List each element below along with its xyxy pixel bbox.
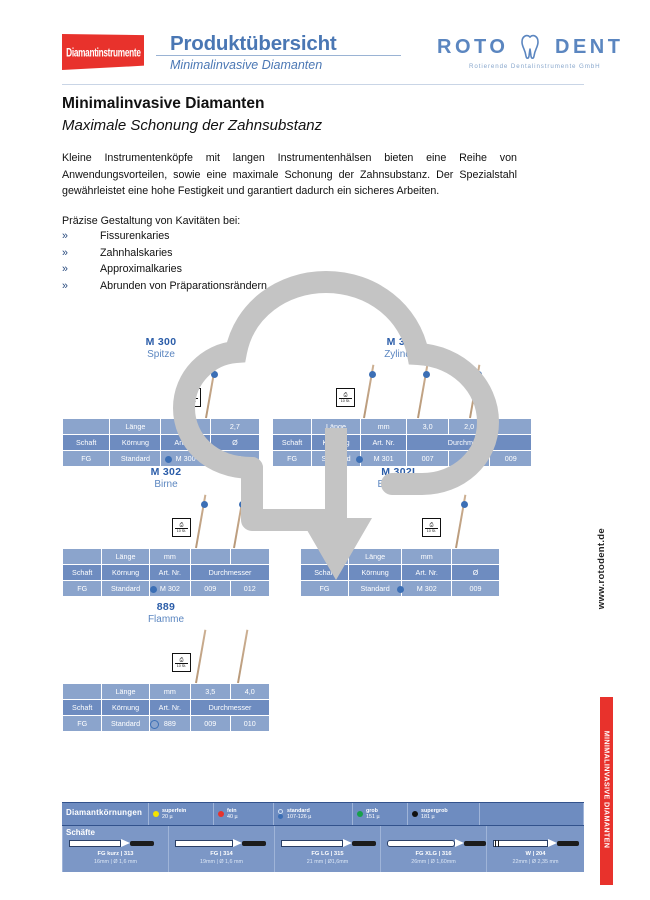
cell-grit-value: Standard <box>312 451 361 467</box>
bur-head <box>423 371 430 378</box>
cell-length-label: Länge <box>110 419 161 435</box>
product-name: M 300 <box>62 336 260 348</box>
product-name: M 301 <box>272 336 532 348</box>
cell-empty <box>273 419 312 435</box>
bur-graphic <box>190 625 202 683</box>
cell-length-value: 2,7 <box>210 419 259 435</box>
cell-shaft-value: FG <box>63 451 110 467</box>
cell-unit: mm <box>402 549 452 565</box>
shaft-legend: Schäfte FG kurz | 313 16mm | Ø 1,6 mm FG… <box>62 826 584 872</box>
table-row: Schaft Körnung Art. Nr. Ø <box>63 435 260 451</box>
list-item: » Approximalkaries <box>62 263 462 280</box>
cell-shaft-label: Schaft <box>63 565 102 581</box>
cell-shaft-value: FG <box>63 581 102 597</box>
cell-diam-value: 009 <box>191 716 230 732</box>
grain-legend: Diamantkörnungen superfein 20 µ fein 40 … <box>62 802 584 826</box>
shaft-label: FG LG | 315 <box>275 851 380 857</box>
cell-diam-value: 010 <box>230 716 269 732</box>
grain-size: 107-126 µ <box>287 814 311 820</box>
product-block-m301: M 301 Zylinder ⎙ 10 St. Länge <box>272 336 532 467</box>
bur-illustrations: ⎙ 10 St. <box>300 490 500 548</box>
bur-graphic <box>228 490 240 548</box>
page-subtitle: Maximale Schonung der Zahnsubstanz <box>62 117 322 134</box>
cell-diam-label: Durchmesser <box>191 565 270 581</box>
shaft-graphic <box>387 839 487 848</box>
table-row: Länge mm <box>301 549 500 565</box>
bur-illustrations: ⎙ 10 St. <box>62 625 270 683</box>
page-header: Diamantinstrumente Produktübersicht Mini… <box>62 30 582 78</box>
cell-empty <box>63 549 102 565</box>
section-tab: MINIMALINVASIVE DIAMANTEN <box>600 697 613 885</box>
cell-diam-label: Ø <box>210 435 259 451</box>
spec-table: Länge mm 2,7 Schaft Körnung Art. Nr. Ø F… <box>62 418 260 467</box>
shaft-dims: 26mm | Ø 1,60mm <box>381 859 486 865</box>
cell-grit-label: Körnung <box>102 565 149 581</box>
scale-indicator-icon: ⎙ 10 St. <box>172 518 191 537</box>
scale-label: 10 St. <box>339 398 352 403</box>
shaft-label: FG kurz | 313 <box>63 851 168 857</box>
cell-length-value <box>490 419 532 435</box>
cell-grit-value: Standard <box>102 716 149 732</box>
cell-length-value: 3,5 <box>191 684 230 700</box>
bur-shank <box>237 630 248 684</box>
cell-grit-label: Körnung <box>312 435 361 451</box>
bur-illustrations: ⎙ 10 St. <box>62 490 270 548</box>
section-tab-label: MINIMALINVASIVE DIAMANTEN <box>603 696 612 884</box>
list-item: » Abrunden von Präparationsrändern <box>62 280 462 297</box>
cell-length-value <box>230 549 269 565</box>
bur-graphic <box>412 360 424 418</box>
bur-head <box>211 371 218 378</box>
grain-dot-icon <box>153 811 159 817</box>
product-description: Zylinder <box>272 349 532 360</box>
grain-size: 151 µ <box>366 814 380 820</box>
shaft-legend-item: FG XLG | 316 26mm | Ø 1,60mm <box>380 826 486 872</box>
website-url: www.rotodent.de <box>596 528 607 609</box>
cell-unit: mm <box>149 684 190 700</box>
product-description: Flamme <box>62 614 270 625</box>
table-row: Länge mm 3,0 2,0 <box>273 419 532 435</box>
table-row: Länge mm 3,5 4,0 <box>63 684 270 700</box>
cell-length-label: Länge <box>102 549 149 565</box>
list-heading: Präzise Gestaltung von Kavitäten bei: <box>62 215 240 227</box>
cell-length-label: Länge <box>312 419 361 435</box>
bur-illustrations: ⎙ 10 St. <box>62 360 260 418</box>
product-description: Birne lang <box>300 479 500 490</box>
scale-indicator-icon: ⎙ 10 St. <box>182 388 201 407</box>
bur-head <box>239 501 246 508</box>
cell-length-value: 3,0 <box>407 419 449 435</box>
bur-graphic <box>200 360 212 418</box>
table-row: FG Standard M 301 007 008 009 <box>273 451 532 467</box>
bur-head <box>461 501 468 508</box>
spec-table: Länge mm 3,0 2,0 Schaft Körnung Art. Nr.… <box>272 418 532 467</box>
cell-diam-value: 009 <box>452 581 500 597</box>
cell-length-label: Länge <box>102 684 149 700</box>
bullet-marker-icon: » <box>62 263 68 275</box>
cell-diam-value: 007 <box>407 451 449 467</box>
grain-size: 181 µ <box>421 814 435 820</box>
bullet-marker-icon: » <box>62 230 68 242</box>
cell-art-label: Art. Nr. <box>161 435 210 451</box>
product-description: Spitze <box>62 349 260 360</box>
scale-indicator-icon: ⎙ 10 St. <box>336 388 355 407</box>
product-description: Birne <box>62 479 270 490</box>
bur-graphic <box>232 625 244 683</box>
shaft-legend-item: FG LG | 315 21 mm | Ø1,6mm <box>274 826 380 872</box>
cell-diam-label: Durchmesser <box>191 700 270 716</box>
list-item: » Fissurenkaries <box>62 230 462 247</box>
bur-graphic <box>464 360 476 418</box>
header-bottom-rule <box>62 84 584 85</box>
indication-list: » Fissurenkaries » Zahnhalskaries » Appr… <box>62 230 462 296</box>
cell-grit-label: Körnung <box>102 700 149 716</box>
cell-diam-value: 008 <box>448 451 490 467</box>
product-block-m302: M 302 Birne ⎙ 10 St. Länge mm <box>62 466 270 597</box>
cell-unit: mm <box>161 419 210 435</box>
shaft-graphic <box>493 839 583 848</box>
table-row: FG Standard 889 009 010 <box>63 716 270 732</box>
table-row: Länge mm <box>63 549 270 565</box>
shaft-label: W | 204 <box>487 851 584 857</box>
document-page: Diamantinstrumente Produktübersicht Mini… <box>0 0 650 900</box>
scale-label: 10 St. <box>425 528 438 533</box>
shaft-label: FG | 314 <box>169 851 274 857</box>
spec-table: Länge mm 3,5 4,0 Schaft Körnung Art. Nr.… <box>62 683 270 732</box>
cell-art-label: Art. Nr. <box>149 565 190 581</box>
cell-length-value: 4,0 <box>230 684 269 700</box>
bur-head <box>201 501 208 508</box>
grain-legend-item: grob 151 µ <box>352 803 407 825</box>
cell-grit-value: Standard <box>102 581 149 597</box>
grain-size: 40 µ <box>227 814 238 820</box>
grain-legend-item: standard 107-126 µ <box>273 803 352 825</box>
table-row: Schaft Körnung Art. Nr. Durchmesser <box>273 435 532 451</box>
bur-graphic <box>358 360 370 418</box>
shaft-legend-item: W | 204 22mm | Ø 2,35 mm <box>486 826 584 872</box>
list-item-label: Zahnhalskaries <box>100 247 172 259</box>
page-title: Minimalinvasive Diamanten <box>62 95 264 113</box>
grain-dot-icon <box>357 811 363 817</box>
grain-dot-icon <box>278 809 284 819</box>
cell-diam-label: Durchmesser <box>407 435 532 451</box>
intro-paragraph: Kleine Instrumentenköpfe mit langen Inst… <box>62 150 517 200</box>
cell-shaft-value: FG <box>63 716 102 732</box>
grain-size: 20 µ <box>162 814 173 820</box>
table-row: Schaft Körnung Art. Nr. Durchmesser <box>63 565 270 581</box>
shaft-legend-item: FG | 314 19mm | Ø 1,6 mm <box>168 826 274 872</box>
cell-diam-label: Ø <box>452 565 500 581</box>
shaft-dims: 22mm | Ø 2,35 mm <box>487 859 584 865</box>
brand-tagline: Rotierende Dentalinstrumente GmbH <box>469 63 601 70</box>
product-name: M 302 <box>62 466 270 478</box>
cell-shaft-label: Schaft <box>63 435 110 451</box>
cell-art-label: Art. Nr. <box>360 435 406 451</box>
cell-diam-value: 009 <box>490 451 532 467</box>
grain-text: fein 40 µ <box>227 808 238 820</box>
table-row: FG Standard M 300 007 <box>63 451 260 467</box>
product-block-889: 889 Flamme ⎙ 10 St. Länge mm 3,5 4,0 <box>62 601 270 732</box>
cell-art-label: Art. Nr. <box>402 565 452 581</box>
cell-length-value <box>452 549 500 565</box>
cell-length-value: 2,0 <box>448 419 490 435</box>
grain-legend-item: superfein 20 µ <box>148 803 213 825</box>
shaft-graphic <box>175 839 270 848</box>
brand-word-left: ROTO <box>437 36 508 59</box>
list-item: » Zahnhalskaries <box>62 247 462 264</box>
header-subtitle: Minimalinvasive Diamanten <box>170 58 322 72</box>
grain-text: standard 107-126 µ <box>287 808 311 820</box>
product-block-m302l: M 302L Birne lang ⎙ 10 St. Länge mm Scha… <box>300 466 500 597</box>
shaft-graphic <box>281 839 379 848</box>
cell-unit: mm <box>149 549 190 565</box>
grain-dot-icon <box>412 811 418 817</box>
cell-shaft-label: Schaft <box>63 700 102 716</box>
header-title: Produktübersicht <box>170 32 337 56</box>
grain-legend-spacer <box>479 803 584 825</box>
bur-graphic <box>450 490 462 548</box>
cell-shaft-value: FG <box>273 451 312 467</box>
cell-empty <box>63 684 102 700</box>
shaft-dims: 16mm | Ø 1,6 mm <box>63 859 168 865</box>
spec-table: Länge mm Schaft Körnung Art. Nr. Durchme… <box>62 548 270 597</box>
bullet-marker-icon: » <box>62 280 68 292</box>
list-item-label: Approximalkaries <box>100 263 182 275</box>
scale-indicator-icon: ⎙ 10 St. <box>422 518 441 537</box>
table-row: Länge mm 2,7 <box>63 419 260 435</box>
scale-label: 10 St. <box>175 528 188 533</box>
bur-head <box>369 371 376 378</box>
grain-text: grob 151 µ <box>366 808 380 820</box>
table-row: Schaft Körnung Art. Nr. Ø <box>301 565 500 581</box>
grit-dot-icon <box>150 581 157 599</box>
cell-length-value <box>191 549 230 565</box>
product-name: M 302L <box>300 466 500 478</box>
cell-length-label: Länge <box>348 549 402 565</box>
brand-word-right: DENT <box>555 36 623 59</box>
list-item-label: Fissurenkaries <box>100 230 170 242</box>
bur-graphic <box>190 490 202 548</box>
cell-empty <box>63 419 110 435</box>
cell-grit-value: Standard <box>110 451 161 467</box>
cell-grit-value: Standard <box>348 581 402 597</box>
product-name: 889 <box>62 601 270 613</box>
diamantinstrumente-logo: Diamantinstrumente <box>62 34 144 70</box>
scale-indicator-icon: ⎙ 10 St. <box>172 653 191 672</box>
cell-unit: mm <box>360 419 406 435</box>
grain-legend-item: supergrob 181 µ <box>407 803 479 825</box>
shaft-dims: 21 mm | Ø1,6mm <box>275 859 380 865</box>
bur-shank <box>195 630 206 684</box>
cell-grit-label: Körnung <box>110 435 161 451</box>
cell-diam-value: 007 <box>210 451 259 467</box>
grit-dot-icon <box>397 581 404 599</box>
grain-dot-icon <box>218 811 224 817</box>
bur-head <box>475 371 482 378</box>
cell-art-value: M 301 <box>360 451 406 467</box>
page-footer: Diamantkörnungen superfein 20 µ fein 40 … <box>62 802 584 872</box>
grain-text: supergrob 181 µ <box>421 808 448 820</box>
cell-shaft-label: Schaft <box>273 435 312 451</box>
list-item-label: Abrunden von Präparationsrändern <box>100 280 267 292</box>
scale-label: 10 St. <box>175 663 188 668</box>
rotodent-logo: ROTO DENT Rotierende Dentalinstrumente G… <box>437 34 647 76</box>
shaft-dims: 19mm | Ø 1,6 mm <box>169 859 274 865</box>
cell-diam-value: 012 <box>230 581 269 597</box>
grain-legend-title: Diamantkörnungen <box>66 808 142 817</box>
table-row: Schaft Körnung Art. Nr. Durchmesser <box>63 700 270 716</box>
cell-shaft-value: FG <box>301 581 349 597</box>
grain-text: superfein 20 µ <box>162 808 186 820</box>
logo-text: Diamantinstrumente <box>66 45 140 60</box>
shaft-graphic <box>69 839 161 848</box>
cell-diam-value: 009 <box>191 581 230 597</box>
grain-legend-item: fein 40 µ <box>213 803 273 825</box>
shaft-label: FG XLG | 316 <box>381 851 486 857</box>
table-row: FG Standard M 302 009 012 <box>63 581 270 597</box>
bur-illustrations: ⎙ 10 St. <box>272 360 532 418</box>
product-block-m300: M 300 Spitze ⎙ 10 St. Länge mm 2,7 Schaf… <box>62 336 260 467</box>
cell-shaft-label: Schaft <box>301 565 349 581</box>
tooth-icon <box>515 32 545 62</box>
grit-dot-icon <box>150 716 159 734</box>
cell-grit-label: Körnung <box>348 565 402 581</box>
bullet-marker-icon: » <box>62 247 68 259</box>
shaft-legend-item: FG kurz | 313 16mm | Ø 1,6 mm <box>62 826 168 872</box>
cell-art-label: Art. Nr. <box>149 700 190 716</box>
scale-label: 10 St. <box>185 398 198 403</box>
cell-empty <box>301 549 349 565</box>
cell-art-value: M 302 <box>402 581 452 597</box>
